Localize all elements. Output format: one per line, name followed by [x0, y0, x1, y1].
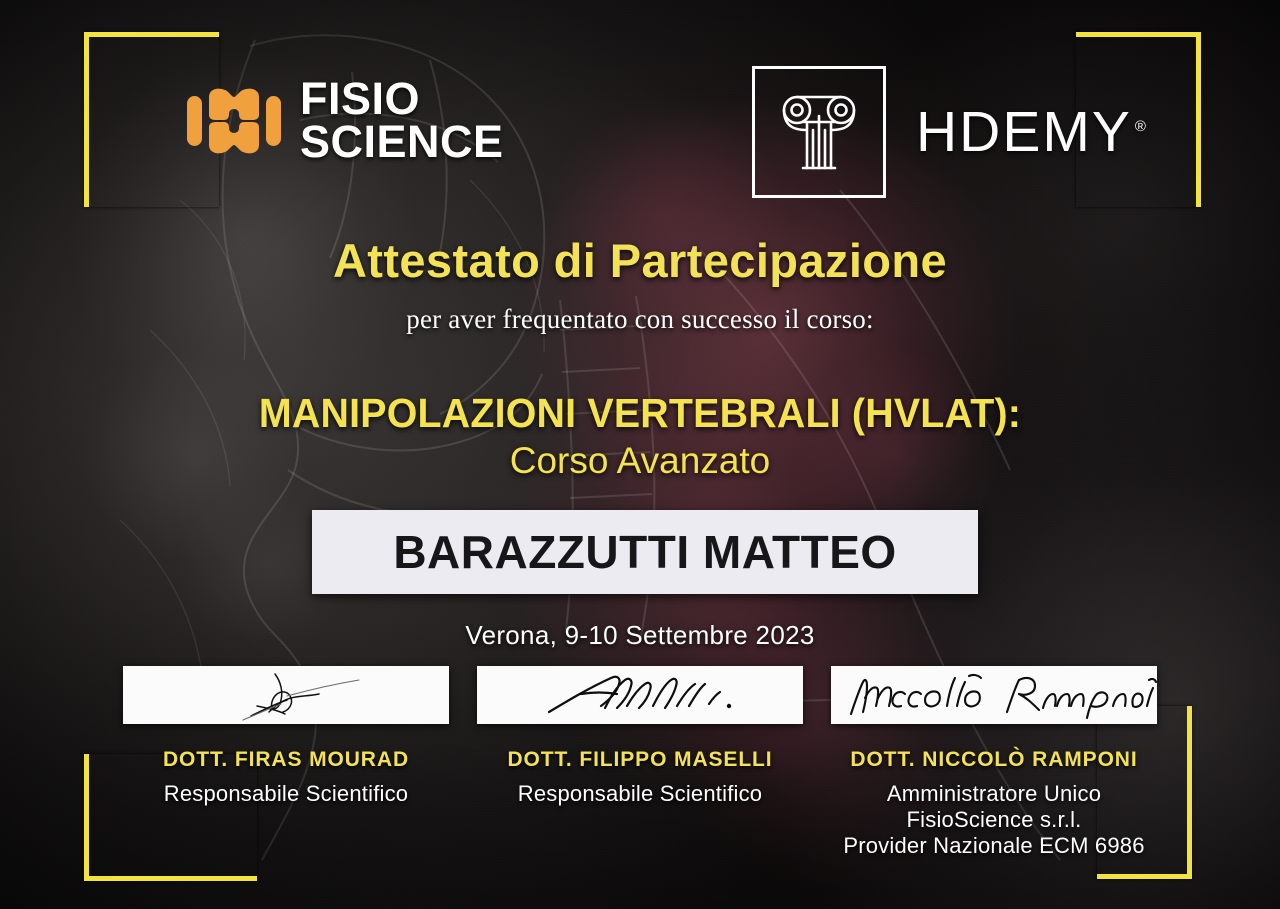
fisioscience-logo: FISIO SCIENCE: [186, 78, 504, 164]
recipient-name-box: BARAZZUTTI MATTEO: [312, 510, 978, 594]
signature-role-line: Responsabile Scientifico: [477, 781, 803, 807]
hdemy-mark-frame: [752, 66, 886, 198]
signature-role-2: Responsabile Scientifico: [477, 781, 803, 807]
handwritten-signature-firas-mourad-icon: [123, 666, 449, 724]
signature-role-line: FisioScience s.r.l.: [831, 807, 1157, 833]
signature-block-1: DOTT. FIRAS MOURAD Responsabile Scientif…: [123, 666, 449, 859]
signature-name-3: DOTT. NICCOLÒ RAMPONI: [831, 748, 1157, 772]
certificate-subtitle: per aver frequentato con successo il cor…: [0, 304, 1280, 335]
fisio-line-1: FISIO: [300, 78, 504, 121]
signature-role-line: Provider Nazionale ECM 6986: [831, 833, 1157, 859]
signature-name-2: DOTT. FILIPPO MASELLI: [477, 748, 803, 772]
signature-block-3: DOTT. NICCOLÒ RAMPONI Amministratore Uni…: [831, 666, 1157, 859]
ionic-column-icon: [776, 86, 862, 178]
course-title: MANIPOLAZIONI VERTEBRALI (HVLAT):: [26, 390, 1255, 437]
logo-header-row: FISIO SCIENCE: [0, 60, 1280, 180]
course-subtitle: Corso Avanzato: [0, 440, 1280, 482]
certificate-document: FISIO SCIENCE: [0, 0, 1280, 909]
fisioscience-vertebra-icon: [186, 85, 282, 157]
certificate-content: FISIO SCIENCE: [0, 0, 1280, 909]
place-and-date: Verona, 9-10 Settembre 2023: [0, 620, 1280, 651]
signature-box-2: [477, 666, 803, 724]
signature-role-line: Amministratore Unico: [831, 781, 1157, 807]
signature-row: DOTT. FIRAS MOURAD Responsabile Scientif…: [0, 666, 1280, 859]
signature-box-3: [831, 666, 1157, 724]
handwritten-signature-niccolo-ramponi-icon: [831, 666, 1157, 724]
signature-block-2: DOTT. FILIPPO MASELLI Responsabile Scien…: [477, 666, 803, 859]
handwritten-signature-filippo-maselli-icon: [477, 666, 803, 724]
signature-role-line: Responsabile Scientifico: [123, 781, 449, 807]
signature-role-3: Amministratore Unico FisioScience s.r.l.…: [831, 781, 1157, 859]
signature-name-1: DOTT. FIRAS MOURAD: [123, 748, 449, 772]
fisio-line-2: SCIENCE: [300, 121, 504, 164]
hdemy-logo: HDEMY®: [752, 66, 1148, 198]
registered-trademark-icon: ®: [1135, 118, 1148, 135]
fisioscience-wordmark: FISIO SCIENCE: [300, 78, 504, 164]
signature-role-1: Responsabile Scientifico: [123, 781, 449, 807]
recipient-name: BARAZZUTTI MATTEO: [393, 525, 896, 579]
signature-box-1: [123, 666, 449, 724]
hdemy-word-text: HDEMY: [916, 100, 1132, 164]
certificate-title: Attestato di Partecipazione: [0, 233, 1280, 288]
hdemy-wordmark: HDEMY®: [916, 99, 1148, 165]
